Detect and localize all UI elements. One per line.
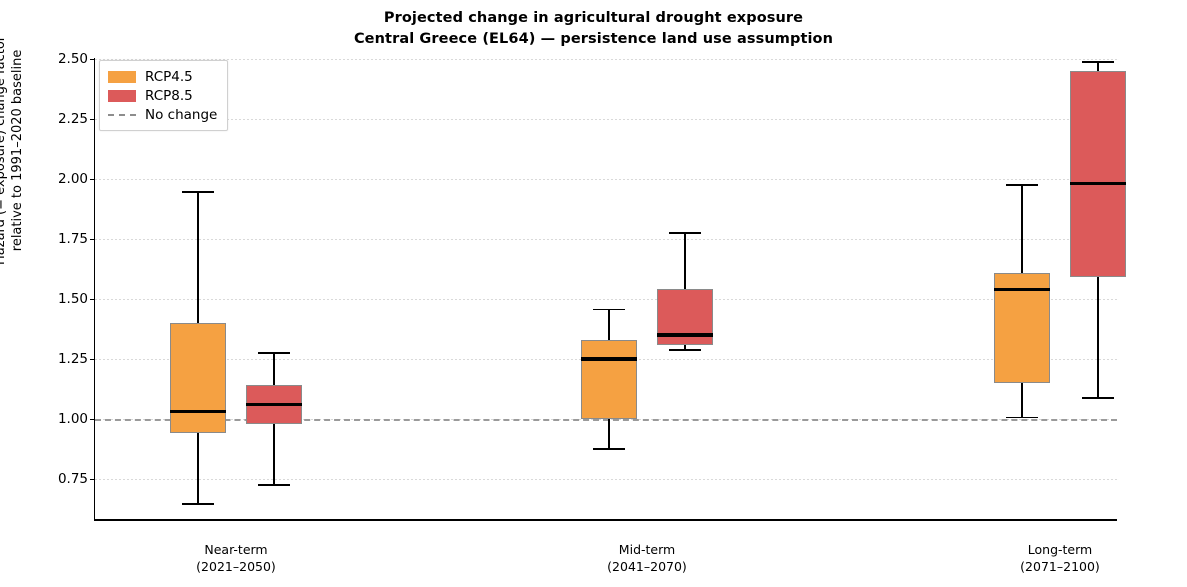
legend-swatch-rcp85 xyxy=(108,90,136,102)
y-axis-title: Hazard (= exposure) change factor relati… xyxy=(0,36,26,265)
y-axis-tick-label: 1.00 xyxy=(58,411,88,427)
y-axis-tick xyxy=(90,179,95,180)
x-axis-label-period: (2071–2100) xyxy=(1020,558,1100,575)
y-axis-tick-label: 0.75 xyxy=(58,471,88,487)
x-axis-tick-label: Long-term(2071–2100) xyxy=(1020,541,1100,575)
chart-title-line1: Projected change in agricultural drought… xyxy=(0,8,1187,29)
y-axis-title-line1: Hazard (= exposure) change factor xyxy=(0,36,9,265)
x-axis-label-name: Near-term xyxy=(196,541,276,558)
legend-label-rcp85: RCP8.5 xyxy=(145,88,193,104)
boxplot-rcp85-long-term xyxy=(95,58,1117,520)
y-axis-tick-label: 2.50 xyxy=(58,51,88,67)
chart-legend: RCP4.5 RCP8.5 No change xyxy=(99,60,228,131)
legend-label-rcp45: RCP4.5 xyxy=(145,69,193,85)
y-axis-tick xyxy=(90,59,95,60)
x-axis-tick-label: Near-term(2021–2050) xyxy=(196,541,276,575)
y-axis-tick xyxy=(90,239,95,240)
y-axis-tick-label: 1.75 xyxy=(58,231,88,247)
legend-item-rcp45: RCP4.5 xyxy=(108,67,217,86)
y-axis-tick xyxy=(90,359,95,360)
y-axis-tick-label: 2.00 xyxy=(58,171,88,187)
median-line xyxy=(1070,182,1126,185)
y-axis-tick-label: 1.50 xyxy=(58,291,88,307)
y-axis-tick xyxy=(90,299,95,300)
x-axis-label-name: Mid-term xyxy=(607,541,687,558)
y-axis-tick-label: 2.25 xyxy=(58,111,88,127)
chart-figure: Projected change in agricultural drought… xyxy=(0,0,1187,587)
cap-lower xyxy=(1082,397,1113,399)
y-axis-title-line2: relative to 1991–2020 baseline xyxy=(9,36,26,265)
y-axis-tick xyxy=(90,479,95,480)
chart-title-line2: Central Greece (EL64) — persistence land… xyxy=(0,29,1187,50)
legend-label-no-change: No change xyxy=(145,107,217,123)
plot-area xyxy=(95,58,1117,520)
y-axis-tick xyxy=(90,419,95,420)
x-axis-label-period: (2041–2070) xyxy=(607,558,687,575)
x-axis-line xyxy=(94,519,1117,521)
legend-item-rcp85: RCP8.5 xyxy=(108,86,217,105)
y-axis-tick-label: 1.25 xyxy=(58,351,88,367)
whisker-lower xyxy=(1097,277,1099,397)
box xyxy=(1070,71,1126,277)
legend-swatch-rcp45 xyxy=(108,71,136,83)
y-axis-tick xyxy=(90,119,95,120)
legend-item-no-change: No change xyxy=(108,105,217,124)
y-axis-line xyxy=(94,58,95,520)
x-axis-tick-label: Mid-term(2041–2070) xyxy=(607,541,687,575)
chart-title: Projected change in agricultural drought… xyxy=(0,8,1187,50)
cap-upper xyxy=(1082,61,1113,63)
x-axis-label-name: Long-term xyxy=(1020,541,1100,558)
x-axis-label-period: (2021–2050) xyxy=(196,558,276,575)
legend-swatch-no-change xyxy=(108,114,136,116)
